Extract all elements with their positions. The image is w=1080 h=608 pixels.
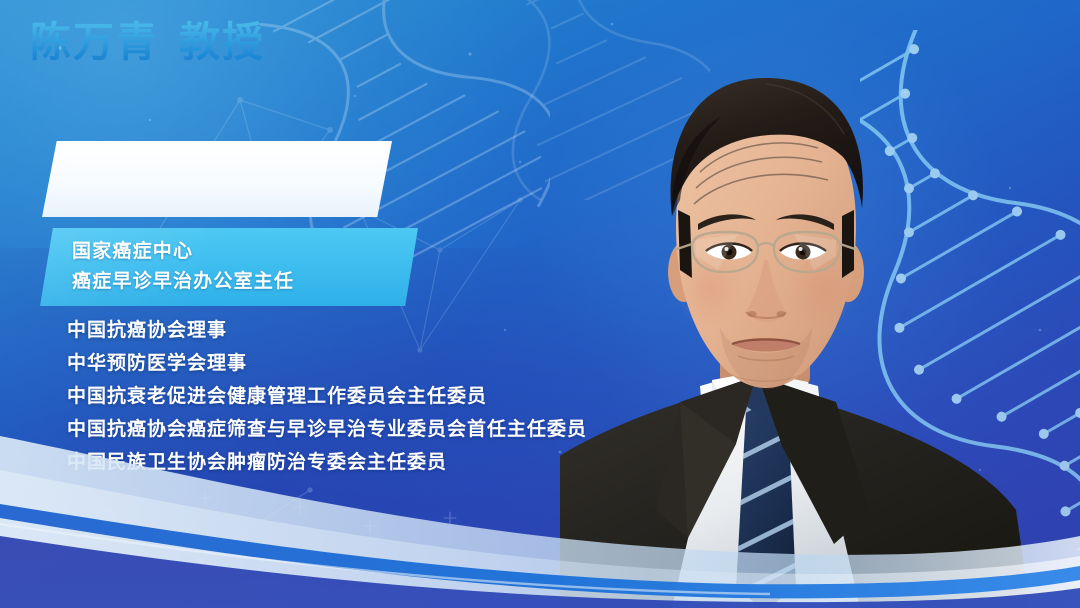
credential-item: 中国民族卫生协会肿瘤防治专委会主任委员	[67, 446, 667, 479]
credential-item: 中国抗癌协会癌症筛查与早诊早治专业委员会首任主任委员	[67, 413, 667, 446]
speaker-intro-slide: 陈万青教授 国家癌症中心 癌症早诊早治办公室主任 中国抗癌协会理事 中华预防医学…	[0, 0, 1080, 608]
speaker-honorific: 教授	[179, 8, 265, 68]
credential-item: 中国抗癌协会理事	[67, 314, 667, 347]
credential-item: 中华预防医学会理事	[67, 347, 667, 380]
credential-item: 中国抗衰老促进会健康管理工作委员会主任委员	[67, 380, 667, 413]
name-banner	[42, 141, 392, 217]
affiliation-lines: 国家癌症中心 癌症早诊早治办公室主任	[40, 228, 418, 306]
molecule-network-bottom-left-icon	[30, 470, 330, 608]
speaker-name-text: 陈万青教授	[0, 0, 350, 76]
speaker-name: 陈万青	[30, 8, 159, 68]
affiliation-line-1: 国家癌症中心	[72, 237, 418, 267]
affiliation-line-2: 癌症早诊早治办公室主任	[72, 267, 418, 297]
credentials-list: 中国抗癌协会理事 中华预防医学会理事 中国抗衰老促进会健康管理工作委员会主任委员…	[67, 314, 667, 479]
